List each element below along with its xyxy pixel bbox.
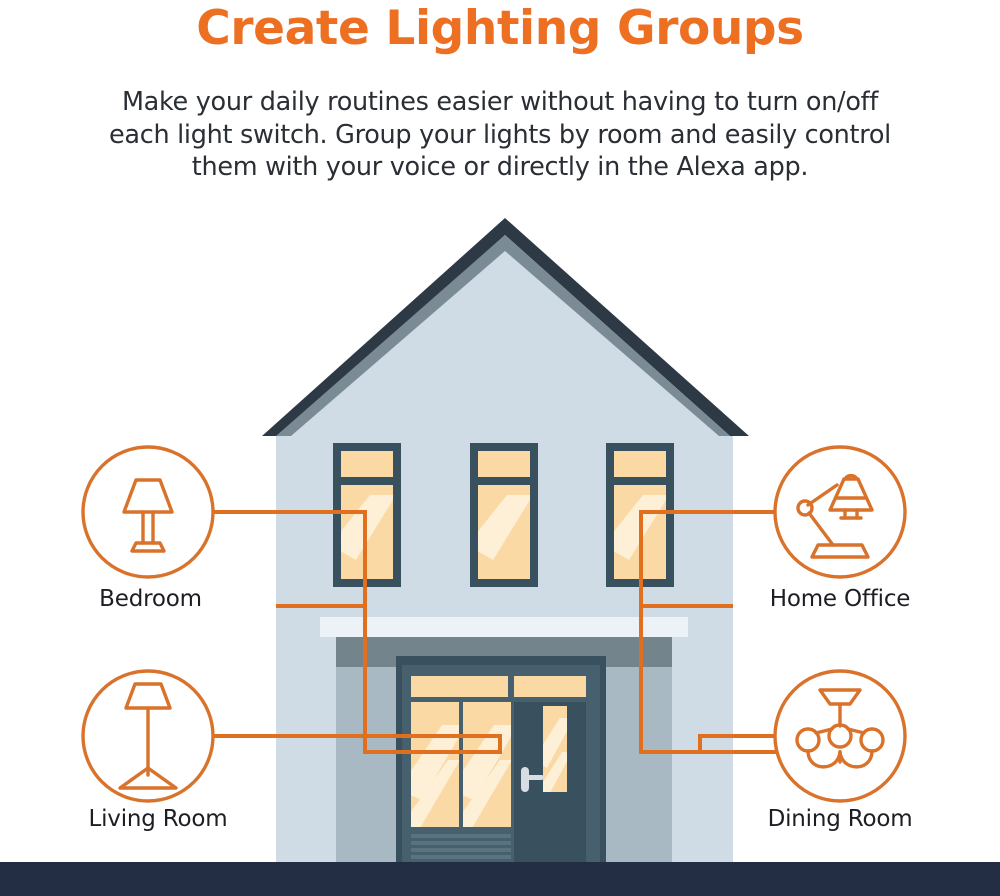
wall-column-left (276, 667, 336, 862)
wall-column-right (672, 667, 733, 862)
room-node-home-office[interactable] (775, 447, 905, 577)
gable-wall (291, 251, 719, 436)
room-label-living-room: Living Room (48, 806, 268, 832)
room-label-home-office: Home Office (740, 586, 940, 612)
room-label-dining-room: Dining Room (740, 806, 940, 832)
room-node-dining-room[interactable] (775, 671, 905, 801)
bottom-bar (0, 862, 1000, 896)
infographic-canvas: Create Lighting Groups Make your daily r… (0, 0, 1000, 896)
house (262, 218, 749, 862)
room-label-bedroom: Bedroom (48, 586, 253, 612)
room-node-living-room[interactable] (83, 671, 213, 801)
house-scene (0, 0, 1000, 896)
door-assembly (396, 656, 606, 862)
room-node-bedroom[interactable] (83, 447, 213, 577)
window-center (467, 443, 538, 587)
window-right (603, 443, 674, 587)
entrance-canopy (320, 617, 688, 637)
